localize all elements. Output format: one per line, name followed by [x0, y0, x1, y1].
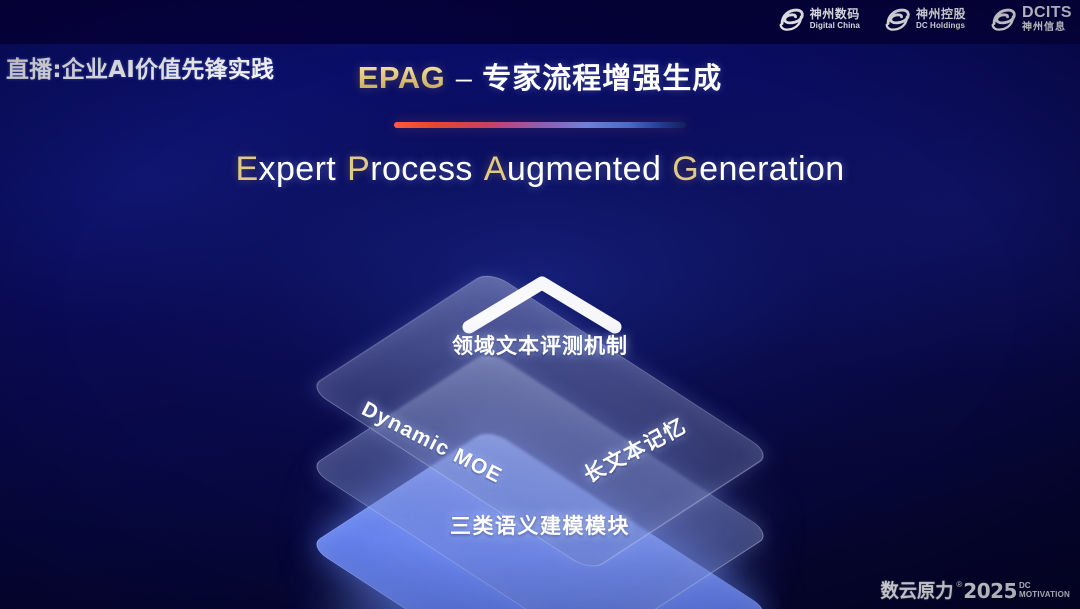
headline-chinese: 专家流程增强生成 [482, 61, 722, 95]
subtitle-cap-e: E [235, 150, 258, 188]
partner-name-en: DC Holdings [916, 22, 966, 30]
brand-dc-motivation: DC MOTIVATION [1019, 580, 1070, 599]
diagram-label-top: 领域文本评测机制 [285, 330, 795, 360]
partner-name-cn: 神州数码 [810, 8, 860, 20]
subtitle-cap-p: P [347, 150, 370, 188]
diagram-label-bottom: 三类语义建模模块 [285, 510, 795, 540]
brand-year: 2025 [963, 580, 1017, 602]
partner-name-en: Digital China [810, 22, 860, 30]
partner-logo-digital-china: 神州数码 Digital China [778, 6, 860, 33]
partner-label-group: DCITS 神州信息 [1022, 5, 1072, 33]
subtitle-rest-process: rocess [370, 150, 473, 188]
partner-name-cn: 神州控股 [916, 8, 966, 20]
brand-motivation-label: MOTIVATION [1019, 590, 1070, 599]
partner-logo-group: 神州数码 Digital China 神州控股 DC Holdings [778, 5, 1072, 33]
partner-label-group: 神州数码 Digital China [810, 8, 860, 30]
subtitle-cap-a: A [484, 150, 507, 188]
partner-logo-dc-holdings: 神州控股 DC Holdings [884, 6, 966, 33]
chevron-up-icon [457, 271, 627, 337]
subtitle-rest-augmented: ugmented [507, 150, 661, 188]
subtitle-rest-expert: xpert [259, 150, 337, 188]
partner-name-en: DCITS [1022, 5, 1072, 21]
page-subtitle: ExpertProcessAugmentedGeneration [0, 150, 1080, 189]
partner-label-group: 神州控股 DC Holdings [916, 8, 966, 30]
layered-architecture-diagram: 领域文本评测机制 Dynamic MOE 长文本记忆 三类语义建模模块 [285, 228, 795, 568]
brand-registered-mark: ® [956, 580, 962, 590]
swirl-logo-icon [884, 6, 911, 33]
partner-logo-dcits: DCITS 神州信息 [990, 5, 1072, 33]
swirl-logo-icon [778, 6, 805, 33]
gradient-divider [394, 122, 686, 128]
brand-name-cn: 数云原力 [881, 580, 954, 602]
subtitle-rest-generation: eneration [699, 150, 844, 188]
headline-dash: – [450, 63, 478, 95]
subtitle-cap-g: G [672, 150, 699, 188]
partner-name-cn: 神州信息 [1022, 23, 1072, 33]
brand-dc-label: DC [1019, 581, 1070, 590]
live-session-title: 直播:企业AI价值先锋实践 [6, 50, 274, 84]
brand-logo-watermark: 数云原力 ® 2025 DC MOTIVATION [879, 580, 1070, 602]
headline-acronym: EPAG [358, 60, 446, 95]
slide-canvas: 数云原力 ® 2025 DC MOTIVATION 直播:企业AI价值先锋实践 … [0, 0, 1080, 609]
swirl-logo-icon [990, 6, 1017, 33]
